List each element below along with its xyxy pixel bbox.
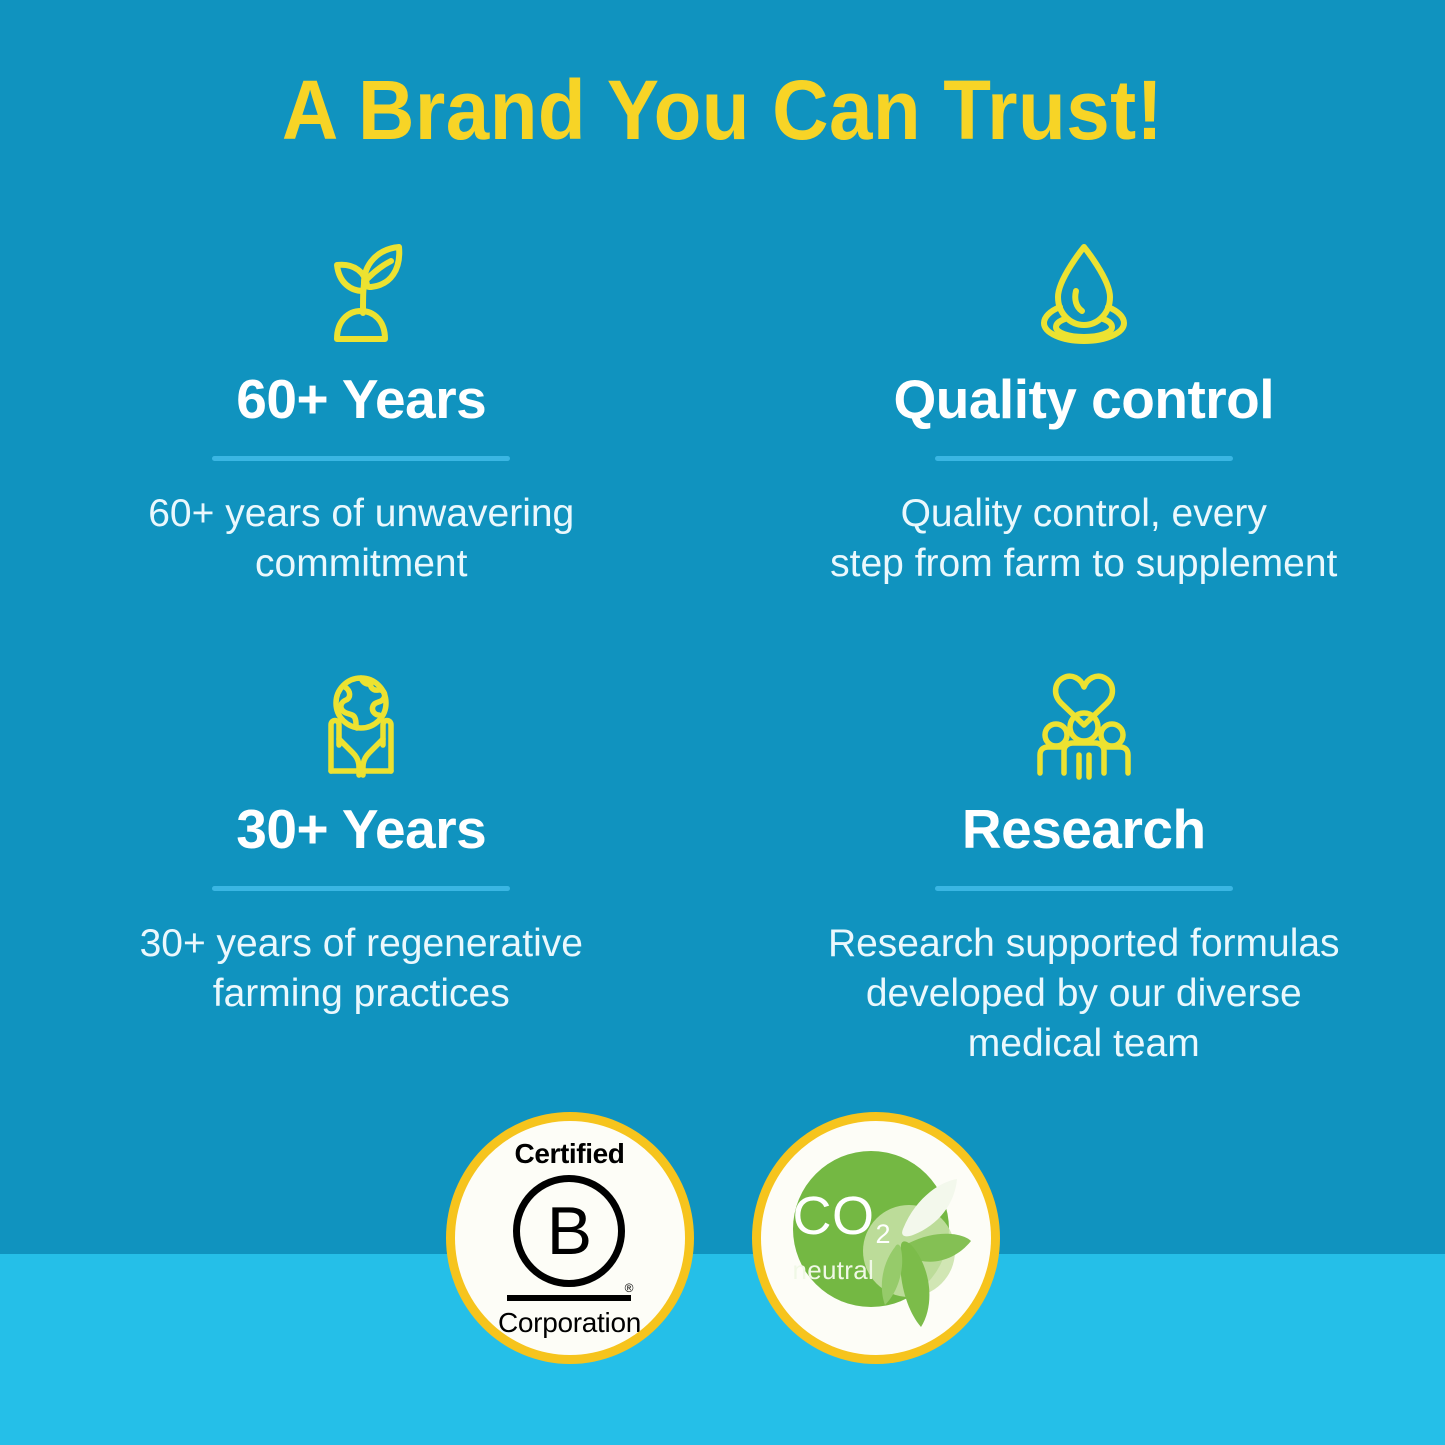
co2-neutral-badge[interactable]: CO2 neutral: [752, 1112, 1000, 1364]
feature-description: Research supported formulas developed by…: [828, 919, 1340, 1069]
water-drop-icon: [1009, 230, 1159, 360]
feature-divider: [935, 456, 1233, 461]
feature-divider: [935, 886, 1233, 891]
poster: A Brand You Can Trust! 60+ Years 60+ yea…: [0, 0, 1445, 1445]
co2-formula: CO2: [793, 1189, 891, 1252]
feature-title: 60+ Years: [236, 368, 486, 430]
feature-card-quality-control: Quality control Quality control, every s…: [723, 222, 1445, 652]
bcorp-corporation-text: Corporation: [498, 1308, 641, 1338]
co2-main-text: CO: [793, 1186, 875, 1246]
co2-neutral-text: neutral: [793, 1256, 891, 1284]
co2-subscript: 2: [876, 1219, 892, 1249]
feature-card-30-years: 30+ Years 30+ years of regenerative farm…: [0, 652, 723, 1082]
co2-lockup: CO2 neutral: [771, 1133, 981, 1343]
sprout-icon: [286, 230, 436, 360]
certification-badges: Certified B ® Corporation: [0, 1112, 1445, 1364]
badge-face: CO2 neutral: [761, 1121, 991, 1355]
feature-description: 60+ years of unwavering commitment: [148, 489, 574, 589]
badge-face: Certified B ® Corporation: [455, 1121, 685, 1355]
bcorp-lockup: Certified B ® Corporation: [498, 1139, 641, 1338]
hands-holding-globe-icon: [286, 660, 436, 790]
co2-text-block: CO2 neutral: [793, 1189, 891, 1284]
feature-title: Quality control: [893, 368, 1274, 430]
feature-divider: [212, 456, 510, 461]
feature-description: Quality control, every step from farm to…: [830, 489, 1337, 589]
feature-title: 30+ Years: [236, 798, 486, 860]
registered-trademark-icon: ®: [625, 1282, 634, 1294]
bcorp-rule-row: ®: [507, 1295, 631, 1301]
page-title: A Brand You Can Trust!: [51, 62, 1395, 158]
family-heart-icon: [1009, 660, 1159, 790]
feature-title: Research: [962, 798, 1206, 860]
feature-card-60-years: 60+ Years 60+ years of unwavering commit…: [0, 222, 723, 652]
feature-grid: 60+ Years 60+ years of unwavering commit…: [0, 222, 1445, 1082]
certified-b-corporation-badge[interactable]: Certified B ® Corporation: [446, 1112, 694, 1364]
bcorp-b-mark: B: [513, 1175, 625, 1287]
bcorp-rule: [507, 1295, 631, 1301]
feature-divider: [212, 886, 510, 891]
feature-description: 30+ years of regenerative farming practi…: [140, 919, 583, 1019]
bcorp-certified-text: Certified: [515, 1139, 625, 1169]
feature-card-research: Research Research supported formulas dev…: [723, 652, 1445, 1082]
